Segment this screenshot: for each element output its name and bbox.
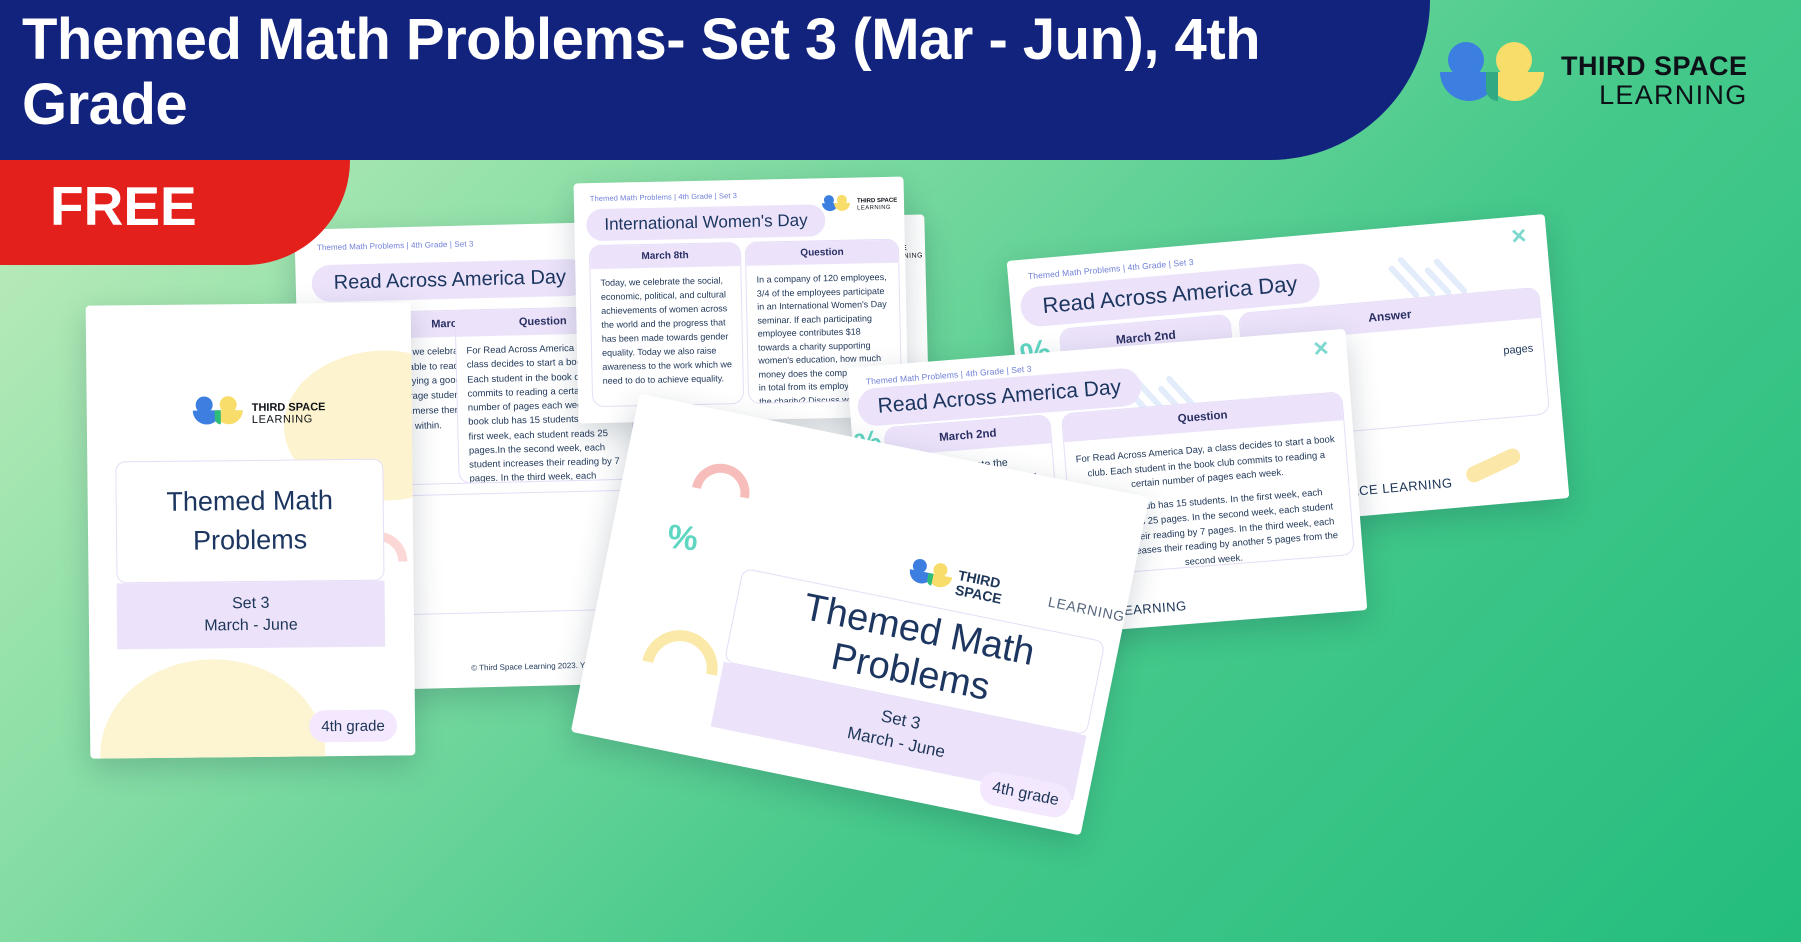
sheet-logo-line2: LEARNING — [857, 204, 897, 211]
poster-stage: Themed Math Problems | 4th Grade | Set 3… — [0, 0, 1801, 942]
close-icon[interactable]: × — [1312, 332, 1330, 364]
grade-badge: 4th grade — [309, 709, 397, 742]
brand-line-2: LEARNING — [1561, 81, 1748, 110]
cover-title: Themed Math Problems — [115, 459, 384, 584]
column-date: March 8th Today, we celebrate the social… — [589, 242, 744, 407]
cover-logo: THIRD SPACE LEARNING — [193, 395, 326, 434]
breadcrumb: Themed Math Problems | 4th Grade | Set 3 — [317, 239, 474, 252]
close-icon[interactable]: × — [1510, 220, 1528, 252]
sheet-brand-tail: ACE LEARNING — [1349, 475, 1453, 499]
brand-logo: THIRD SPACE LEARNING — [1440, 42, 1748, 120]
sheet-title: International Women's Day — [586, 204, 826, 241]
percent-icon: % — [666, 518, 700, 560]
blob-yellow-bottom — [99, 658, 326, 758]
sheet-logo: THIRD SPACE LEARNING — [822, 194, 898, 217]
column-date-header: March 8th — [590, 243, 740, 269]
cover-date-range: March - June — [204, 617, 298, 636]
pill-decoration — [1464, 446, 1523, 485]
header-banner: Themed Math Problems- Set 3 (Mar - Jun),… — [0, 0, 1430, 160]
cover-logo-line2: LEARNING — [252, 414, 326, 426]
sheet-title: Read Across America Day — [311, 259, 588, 303]
column-date-body: Today, we celebrate the social, economic… — [590, 266, 743, 397]
cover-card[interactable]: THIRD SPACE LEARNING Themed Math Problem… — [86, 302, 416, 758]
brand-line-1: THIRD SPACE — [1561, 52, 1748, 81]
page-title: Themed Math Problems- Set 3 (Mar - Jun),… — [22, 8, 1417, 138]
cover-set-label: Set 3 — [232, 595, 270, 613]
cover-subtitle: Set 3 March - June — [117, 581, 386, 650]
third-space-learning-icon — [1440, 42, 1545, 120]
free-badge: FREE — [0, 160, 350, 265]
breadcrumb: Themed Math Problems | 4th Grade | Set 3 — [590, 191, 737, 203]
cover-logo-line1: THIRD SPACE — [954, 568, 1047, 614]
cover-logo-line2: LEARNING — [1047, 593, 1127, 624]
arc-pink-decoration — [680, 453, 760, 533]
column-question-header: Question — [746, 240, 898, 266]
free-badge-label: FREE — [50, 174, 197, 238]
